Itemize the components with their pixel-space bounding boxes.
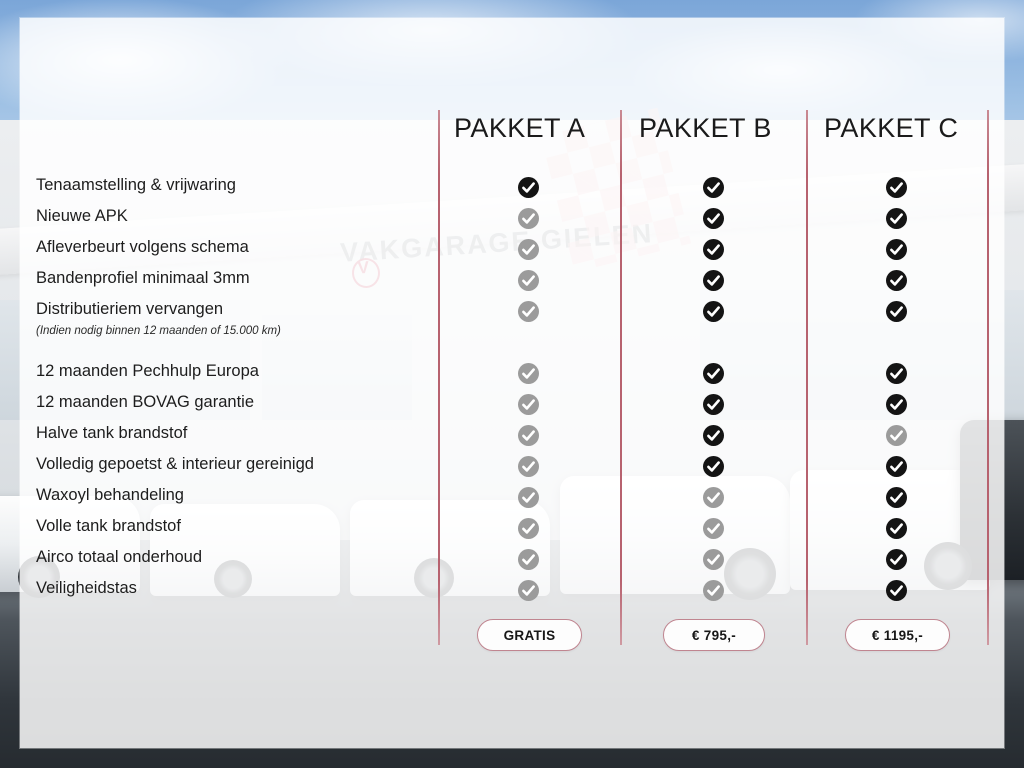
check-on-colb xyxy=(703,239,724,260)
feature-label: Afleverbeurt volgens schema xyxy=(36,238,249,257)
check-on-colc xyxy=(886,549,907,570)
check-off-cola xyxy=(518,487,539,508)
column-header-a: PAKKET A xyxy=(454,113,585,144)
check-off-colc xyxy=(886,425,907,446)
check-off-colb xyxy=(703,549,724,570)
check-on-colb xyxy=(703,363,724,384)
price-badge-a[interactable]: GRATIS xyxy=(477,619,582,651)
check-on-colb xyxy=(703,394,724,415)
feature-label: Volle tank brandstof xyxy=(36,517,181,536)
column-header-c: PAKKET C xyxy=(824,113,958,144)
check-off-cola xyxy=(518,394,539,415)
check-off-colb xyxy=(703,518,724,539)
feature-label: Distributieriem vervangen xyxy=(36,300,223,319)
column-divider-2 xyxy=(620,110,622,645)
check-off-cola xyxy=(518,301,539,322)
check-on-colb xyxy=(703,425,724,446)
check-off-cola xyxy=(518,518,539,539)
check-on-colb xyxy=(703,177,724,198)
poster-canvas: VAKGARAGE GIELEN PAKKET APAKKET BPAKKET … xyxy=(0,0,1024,768)
check-on-colc xyxy=(886,363,907,384)
feature-label: Volledig gepoetst & interieur gereinigd xyxy=(36,455,314,474)
column-header-b: PAKKET B xyxy=(639,113,772,144)
check-on-colb xyxy=(703,270,724,291)
feature-label: Veiligheidstas xyxy=(36,579,137,598)
check-off-cola xyxy=(518,363,539,384)
check-on-colc xyxy=(886,456,907,477)
check-on-colc xyxy=(886,301,907,322)
check-on-colb xyxy=(703,208,724,229)
feature-label: Waxoyl behandeling xyxy=(36,486,184,505)
column-divider-1 xyxy=(438,110,440,645)
check-off-cola xyxy=(518,270,539,291)
feature-label: Tenaamstelling & vrijwaring xyxy=(36,176,236,195)
check-on-colc xyxy=(886,239,907,260)
check-on-colc xyxy=(886,487,907,508)
check-off-cola xyxy=(518,239,539,260)
comparison-table: PAKKET APAKKET BPAKKET CTenaamstelling &… xyxy=(0,0,1024,768)
check-on-colc xyxy=(886,580,907,601)
check-on-colc xyxy=(886,177,907,198)
check-off-cola xyxy=(518,425,539,446)
check-off-cola xyxy=(518,549,539,570)
feature-label: Bandenprofiel minimaal 3mm xyxy=(36,269,250,288)
check-on-colb xyxy=(703,456,724,477)
feature-label: Nieuwe APK xyxy=(36,207,128,226)
feature-label: Airco totaal onderhoud xyxy=(36,548,202,567)
feature-label: 12 maanden Pechhulp Europa xyxy=(36,362,259,381)
check-off-colb xyxy=(703,580,724,601)
check-on-colb xyxy=(703,301,724,322)
price-badge-c[interactable]: € 1195,- xyxy=(845,619,950,651)
feature-label: Halve tank brandstof xyxy=(36,424,187,443)
check-on-cola xyxy=(518,177,539,198)
check-on-colc xyxy=(886,270,907,291)
check-on-colc xyxy=(886,394,907,415)
check-off-colb xyxy=(703,487,724,508)
check-on-colc xyxy=(886,518,907,539)
check-off-cola xyxy=(518,580,539,601)
feature-subnote: (Indien nodig binnen 12 maanden of 15.00… xyxy=(36,325,281,337)
check-on-colc xyxy=(886,208,907,229)
feature-label: 12 maanden BOVAG garantie xyxy=(36,393,254,412)
check-off-cola xyxy=(518,208,539,229)
price-badge-b[interactable]: € 795,- xyxy=(663,619,765,651)
column-divider-4 xyxy=(987,110,989,645)
check-off-cola xyxy=(518,456,539,477)
column-divider-3 xyxy=(806,110,808,645)
